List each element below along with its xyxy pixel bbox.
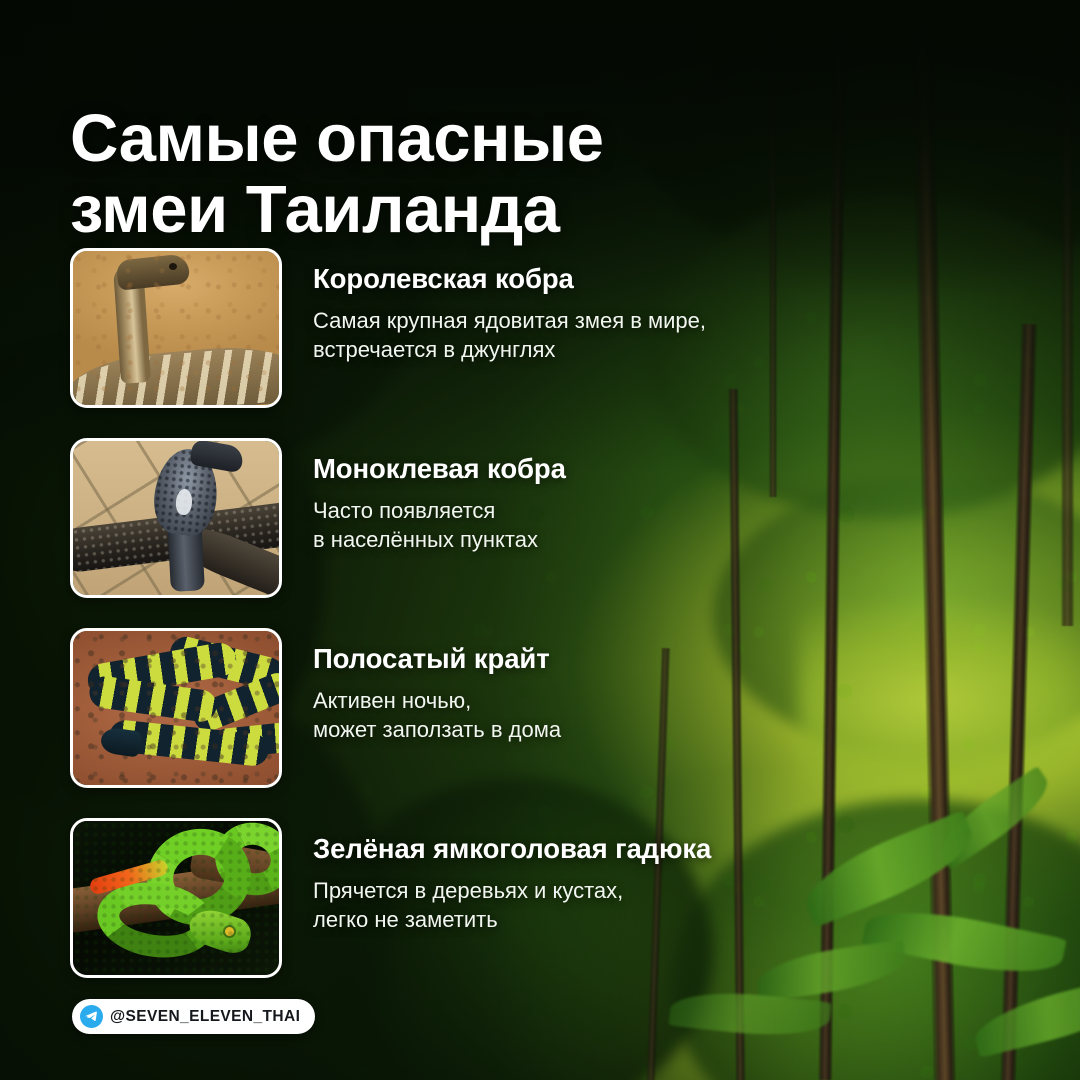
snake-description: Часто появляется в населённых пунктах bbox=[313, 496, 1000, 555]
monocled-cobra-photo bbox=[73, 441, 279, 595]
snake-thumbnail bbox=[70, 818, 282, 978]
snake-description: Самая крупная ядовитая змея в мире, встр… bbox=[313, 306, 1000, 365]
snake-name: Моноклевая кобра bbox=[313, 452, 1000, 485]
snake-list: Королевская кобра Самая крупная ядовитая… bbox=[70, 248, 1000, 1008]
snake-body-segment bbox=[167, 633, 282, 692]
snake-name: Королевская кобра bbox=[313, 262, 1000, 295]
snake-head-shape bbox=[99, 726, 142, 757]
snake-thumbnail bbox=[70, 628, 282, 788]
snake-band-pattern bbox=[70, 342, 282, 408]
snake-text-block: Моноклевая кобра Часто появляется в насе… bbox=[282, 438, 1000, 555]
list-item: Полосатый крайт Активен ночью, может зап… bbox=[70, 628, 1000, 818]
snake-name: Зелёная ямкоголовая гадюка bbox=[313, 832, 1000, 865]
snake-body-shape bbox=[70, 341, 282, 408]
page-title: Самые опасные змеи Таиланда bbox=[70, 103, 770, 245]
snake-description: Прячется в деревьях и кустах, легко не з… bbox=[313, 876, 1000, 935]
snake-thumbnail bbox=[70, 438, 282, 598]
poster-content: Самые опасные змеи Таиланда Королевская … bbox=[0, 0, 1080, 1080]
snake-head-shape bbox=[116, 253, 191, 290]
snake-body-segment bbox=[85, 640, 239, 700]
list-item: Моноклевая кобра Часто появляется в насе… bbox=[70, 438, 1000, 628]
snake-text-block: Королевская кобра Самая крупная ядовитая… bbox=[282, 248, 1000, 365]
snake-body-segment bbox=[189, 669, 282, 736]
snake-text-block: Зелёная ямкоголовая гадюка Прячется в де… bbox=[282, 818, 1000, 935]
list-item: Зелёная ямкоголовая гадюка Прячется в де… bbox=[70, 818, 1000, 1008]
telegram-icon bbox=[80, 1005, 103, 1028]
snake-text-block: Полосатый крайт Активен ночью, может зап… bbox=[282, 628, 1000, 745]
snake-name: Полосатый крайт bbox=[313, 642, 1000, 675]
telegram-channel-badge[interactable]: @SEVEN_ELEVEN_THAI bbox=[72, 999, 315, 1034]
telegram-handle: @SEVEN_ELEVEN_THAI bbox=[110, 1008, 300, 1026]
snake-description: Активен ночью, может заползать в дома bbox=[313, 686, 1000, 745]
snake-thumbnail bbox=[70, 248, 282, 408]
king-cobra-photo bbox=[73, 251, 279, 405]
snake-eye-shape bbox=[169, 263, 177, 270]
snake-body-segment bbox=[212, 720, 282, 759]
snake-eye-shape bbox=[225, 927, 234, 936]
green-pit-viper-photo bbox=[73, 821, 279, 975]
snake-neck-shape bbox=[113, 264, 151, 384]
banded-krait-photo bbox=[73, 631, 279, 785]
infographic-poster: Самые опасные змеи Таиланда Королевская … bbox=[0, 0, 1080, 1080]
snake-body-segment bbox=[87, 674, 218, 724]
list-item: Королевская кобра Самая крупная ядовитая… bbox=[70, 248, 1000, 438]
